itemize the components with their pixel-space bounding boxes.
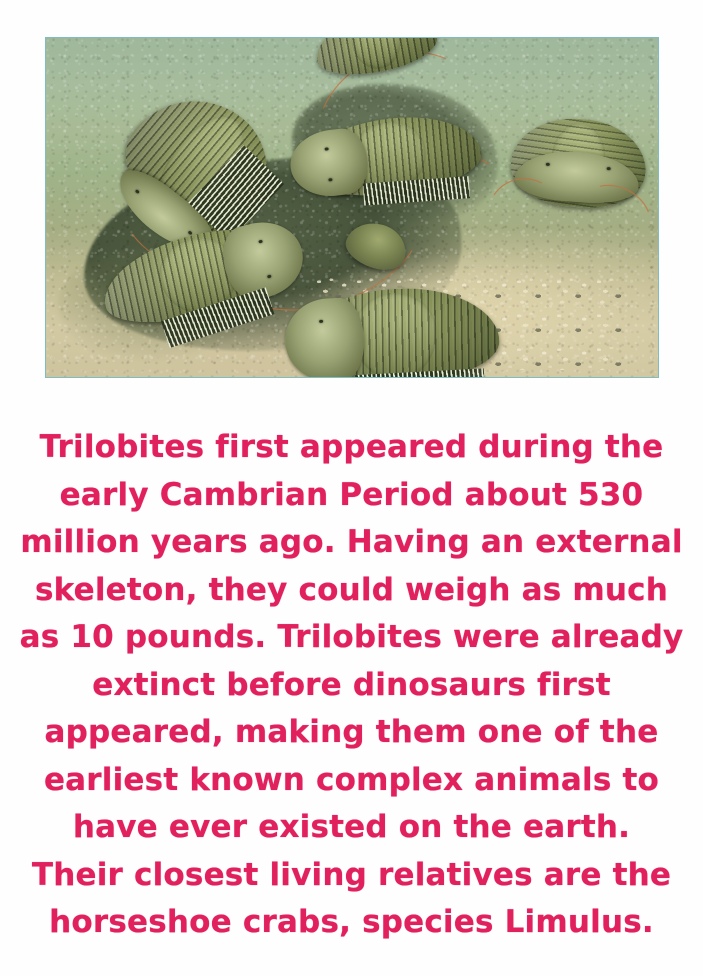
- caption-line: million years ago. Having an external: [0, 519, 703, 567]
- photo-canvas: [46, 38, 658, 377]
- caption-line: appeared, making them one of the: [0, 709, 703, 757]
- trilobite-lower-center: [288, 283, 501, 377]
- caption-line: earliest known complex animals to: [0, 757, 703, 805]
- caption-line: have ever existed on the earth.: [0, 804, 703, 852]
- trilobite-right-facing: [508, 115, 648, 212]
- poster-page: Trilobites first appeared during the ear…: [0, 0, 703, 976]
- caption-line: early Cambrian Period about 530: [0, 472, 703, 520]
- caption-line: horseshoe crabs, species Limulus.: [0, 899, 703, 947]
- trilobite-eye: [319, 319, 323, 322]
- caption-block: Trilobites first appeared during the ear…: [0, 424, 703, 947]
- caption-line: skeleton, they could weigh as much: [0, 567, 703, 615]
- caption-line: as 10 pounds. Trilobites were already: [0, 614, 703, 662]
- trilobite-photo: [45, 37, 659, 378]
- caption-line: Their closest living relatives are the: [0, 852, 703, 900]
- caption-line: Trilobites first appeared during the: [0, 424, 703, 472]
- caption-line: extinct before dinosaurs first: [0, 662, 703, 710]
